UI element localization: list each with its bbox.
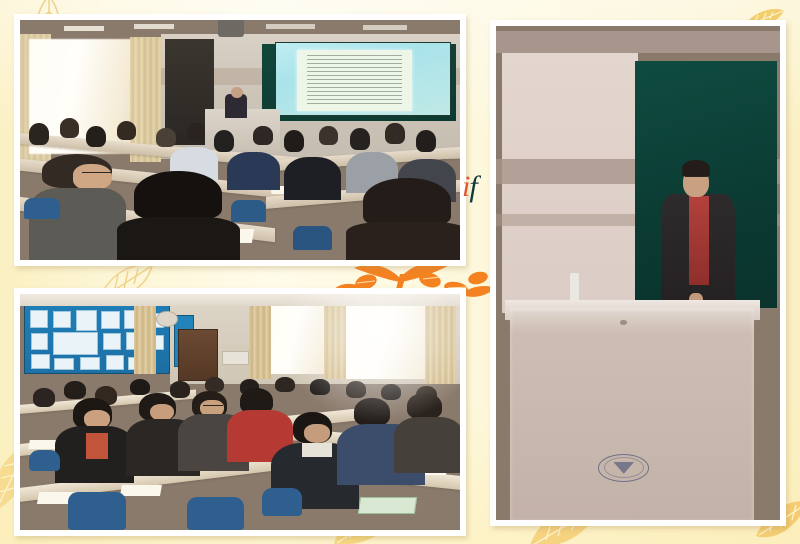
- if-watermark: if: [462, 172, 477, 202]
- ph3-lectern: [510, 308, 754, 520]
- ph1-audience-head: [86, 126, 106, 148]
- ph3-wall-band: [496, 31, 780, 53]
- caption-students-seated: Classroom of attentive students taking n…: [0, 0, 1, 1]
- photo-frame-lecture-hall-wide[interactable]: [14, 14, 466, 266]
- ph2-poster: [53, 332, 99, 355]
- ph1-foreground-person-dark: [134, 171, 222, 219]
- ph2-student-shirt-accent: [86, 433, 108, 459]
- ph2-air-conditioner: [222, 351, 248, 365]
- ph1-projection-screen: [275, 42, 451, 116]
- ph1-projected-slide: [297, 50, 412, 111]
- ph1-audience-head: [29, 123, 49, 145]
- ph2-poster: [76, 310, 97, 331]
- photo-speaker-podium: [496, 26, 780, 520]
- ph1-audience-torso: [227, 152, 280, 190]
- ph1-audience-head: [60, 118, 79, 137]
- ph1-foreground-person-right: [363, 178, 451, 226]
- ph1-audience-head: [156, 128, 175, 147]
- university-emblem-icon: [598, 454, 649, 482]
- ph2-poster: [31, 333, 48, 350]
- ph1-audience-torso: [284, 157, 341, 200]
- ph1-chair: [231, 200, 266, 222]
- ph2-student-head: [33, 388, 55, 407]
- ph2-paper: [120, 485, 161, 496]
- ph3-lectern-button-icon: [620, 320, 627, 324]
- ph2-poster: [53, 311, 72, 328]
- ph1-audience-head: [319, 126, 337, 145]
- photo-collage: if Packed lecture hall viewed from the b…: [0, 0, 800, 544]
- if-watermark-f: f: [469, 170, 476, 203]
- ph1-audience-head: [253, 126, 272, 145]
- ph1-ceiling-light: [266, 24, 314, 29]
- ph2-student-head: [205, 377, 224, 393]
- ph2-door: [178, 329, 218, 381]
- ph1-chair: [293, 226, 333, 250]
- ph2-student-head: [64, 381, 86, 399]
- ph1-slide-text-lines: [307, 55, 401, 106]
- ph1-ceiling-light: [64, 26, 104, 31]
- ph2-curtain: [134, 303, 156, 374]
- ph1-audience-head: [385, 123, 404, 143]
- ph2-chair: [68, 492, 125, 530]
- ph2-chair: [262, 488, 302, 516]
- ph2-student-head: [170, 381, 190, 398]
- ph2-glasses-icon: [203, 405, 223, 408]
- ph1-presenter-head: [231, 87, 242, 98]
- ph1-audience-head: [187, 123, 205, 141]
- ph2-student-collar: [302, 443, 333, 457]
- photo-students-seated: [20, 294, 460, 530]
- ph2-poster: [103, 333, 122, 350]
- ph1-ceiling-light: [363, 25, 407, 30]
- ph2-chair: [187, 497, 244, 530]
- photo-lecture-hall-wide: [20, 20, 460, 260]
- ph1-foreground-face: [73, 164, 113, 190]
- ph1-audience-head: [214, 130, 234, 152]
- ph1-audience-head: [117, 121, 136, 140]
- photo-frame-speaker-podium[interactable]: [490, 20, 786, 526]
- caption-lecture-hall-wide: Packed lecture hall viewed from the back…: [0, 0, 1, 1]
- ph1-foreground-torso: [117, 217, 240, 260]
- ph2-poster: [30, 310, 49, 328]
- ph2-poster: [101, 311, 120, 329]
- ph1-audience-head: [416, 130, 436, 152]
- ph2-poster: [54, 358, 74, 370]
- ph2-chair: [29, 450, 60, 471]
- ph1-foreground-glasses-icon: [82, 172, 113, 177]
- ph3-speaker-hair: [682, 160, 710, 177]
- ph2-notebook: [358, 497, 418, 514]
- ph2-window-glare: [262, 294, 460, 436]
- ph3-speaker-shirt: [689, 196, 709, 285]
- photo-frame-students-seated[interactable]: [14, 288, 466, 536]
- ph2-poster: [31, 354, 50, 369]
- ph1-ceiling-light: [134, 24, 174, 29]
- ph1-audience-head: [350, 128, 370, 150]
- ph1-audience-head: [284, 130, 304, 152]
- ph1-foreground-torso: [346, 222, 460, 260]
- ph1-chair: [24, 198, 59, 220]
- ph3-speaker-glasses-icon: [685, 176, 708, 182]
- ph2-student-head: [130, 379, 150, 396]
- ph1-ceiling-projector: [218, 20, 244, 37]
- caption-speaker-podium: Speaker with glasses standing behind a l…: [0, 0, 1, 1]
- ph2-poster: [80, 357, 100, 371]
- ph2-poster: [106, 355, 125, 370]
